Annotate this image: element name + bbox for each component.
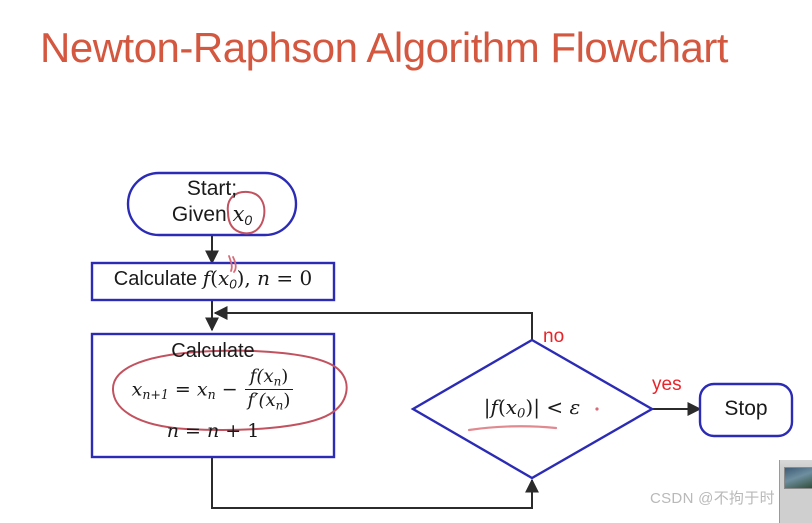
thumbnail-panel[interactable] bbox=[779, 460, 812, 523]
node-start[interactable] bbox=[128, 173, 296, 235]
node-decision[interactable] bbox=[413, 340, 652, 478]
slide-canvas: Newton-Raphson Algorithm Flowchart bbox=[0, 0, 812, 523]
thumbnail-image[interactable] bbox=[784, 467, 812, 489]
node-stop[interactable] bbox=[700, 384, 792, 436]
watermark-text: CSDN @不拘于时 bbox=[650, 487, 775, 508]
node-calculate-main[interactable] bbox=[92, 334, 334, 457]
node-calculate-init[interactable] bbox=[92, 263, 334, 300]
connector-calc-main-to-decision bbox=[212, 457, 532, 508]
flowchart-diagram bbox=[0, 0, 812, 523]
annotation-dot bbox=[595, 407, 598, 410]
